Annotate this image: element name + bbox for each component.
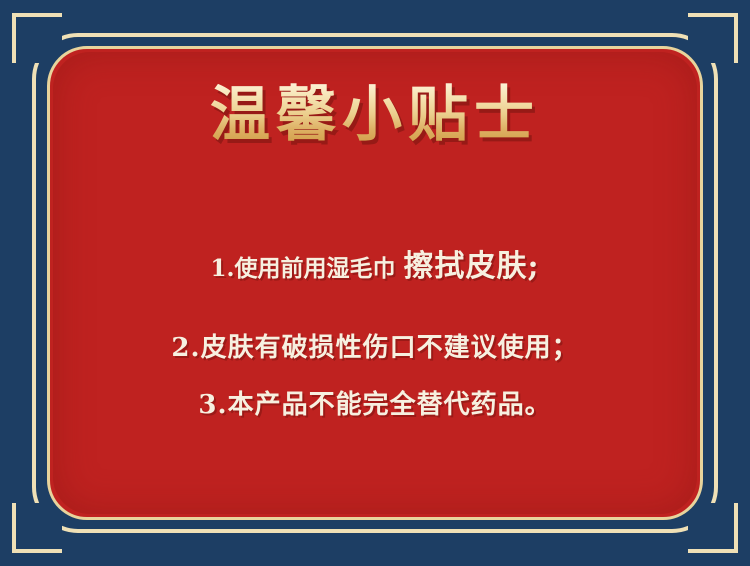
tips-poster: 温馨小贴士 1.使用前用湿毛巾 擦拭皮肤; 2.皮肤有破损性伤口不建议使用； 3… — [0, 0, 750, 566]
panel-content: 温馨小贴士 1.使用前用湿毛巾 擦拭皮肤; 2.皮肤有破损性伤口不建议使用； 3… — [47, 46, 703, 520]
tip-item-1-emphasis: 擦拭皮肤; — [403, 249, 539, 284]
tip-item-2: 2.皮肤有破损性伤口不建议使用； — [47, 327, 703, 364]
tips-list: 1.使用前用湿毛巾 擦拭皮肤; 2.皮肤有破损性伤口不建议使用； 3.本产品不能… — [47, 241, 703, 421]
red-panel: 温馨小贴士 1.使用前用湿毛巾 擦拭皮肤; 2.皮肤有破损性伤口不建议使用； 3… — [47, 46, 703, 520]
tip-item-1-lead: 1.使用前用湿毛巾 — [210, 255, 403, 282]
tip-item-1: 1.使用前用湿毛巾 擦拭皮肤; — [47, 241, 703, 285]
page-title: 温馨小贴士 — [47, 82, 703, 148]
tip-item-3: 3.本产品不能完全替代药品。 — [47, 384, 703, 421]
